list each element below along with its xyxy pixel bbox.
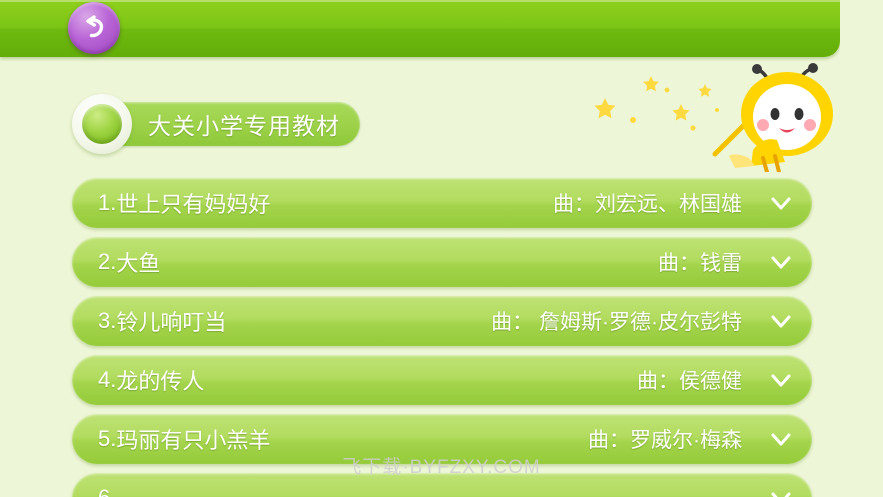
- top-bar: [0, 0, 840, 57]
- song-index: 6.: [98, 485, 116, 497]
- top-bar-right-gap: [840, 0, 883, 57]
- top-bar-highlight: [0, 0, 840, 2]
- back-button[interactable]: [68, 2, 120, 54]
- song-list: 1. 世上只有妈妈好 曲：刘宏远、林国雄 2. 大鱼 曲：钱雷 3. 铃儿响叮当…: [72, 178, 812, 497]
- song-composer: 曲：侯德健: [637, 365, 742, 395]
- chevron-down-icon[interactable]: [768, 308, 794, 334]
- song-title: 玛丽有只小羔羊: [116, 423, 270, 455]
- song-list-item[interactable]: 1. 世上只有妈妈好 曲：刘宏远、林国雄: [72, 178, 812, 228]
- chevron-down-icon[interactable]: [768, 426, 794, 452]
- song-list-item[interactable]: 4. 龙的传人 曲：侯德健: [72, 355, 812, 405]
- circle-knob-icon: [72, 94, 132, 154]
- song-list-item[interactable]: 3. 铃儿响叮当 曲： 詹姆斯·罗德·皮尔彭特: [72, 296, 812, 346]
- song-index: 4.: [98, 367, 116, 393]
- song-list-item[interactable]: 2. 大鱼 曲：钱雷: [72, 237, 812, 287]
- chevron-down-icon[interactable]: [768, 249, 794, 275]
- song-composer: 曲：刘宏远、林国雄: [553, 188, 742, 218]
- chevron-down-icon[interactable]: [768, 485, 794, 497]
- chevron-down-icon[interactable]: [768, 190, 794, 216]
- song-title: 龙的传人: [116, 364, 204, 396]
- back-arrow-icon: [79, 13, 109, 43]
- song-composer: 曲： 詹姆斯·罗德·皮尔彭特: [491, 306, 742, 336]
- song-composer: 曲：罗威尔·梅森: [588, 424, 742, 454]
- song-list-item[interactable]: 5. 玛丽有只小羔羊 曲：罗威尔·梅森: [72, 414, 812, 464]
- song-index: 1.: [98, 190, 116, 216]
- page-title-pill: 大关小学专用教材: [94, 102, 360, 146]
- bee-mascot-icon: [675, 62, 865, 172]
- song-title: 铃儿响叮当: [116, 305, 226, 337]
- song-title: 世上只有妈妈好: [116, 187, 270, 219]
- song-index: 2.: [98, 249, 116, 275]
- song-index: 3.: [98, 308, 116, 334]
- chevron-down-icon[interactable]: [768, 367, 794, 393]
- page-title: 大关小学专用教材: [148, 107, 340, 141]
- circle-knob-inner: [82, 104, 122, 144]
- page-title-group: 大关小学专用教材: [72, 100, 402, 148]
- song-list-item[interactable]: 6.: [72, 473, 812, 497]
- song-index: 5.: [98, 426, 116, 452]
- song-title: 大鱼: [116, 246, 160, 278]
- song-composer: 曲：钱雷: [658, 247, 742, 277]
